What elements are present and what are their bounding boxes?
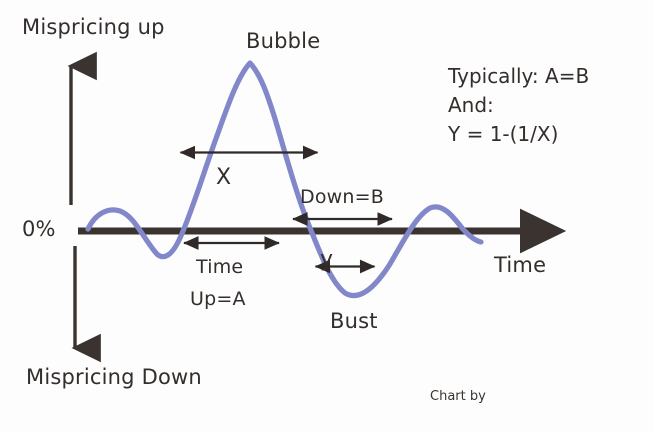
credit-line-1: Chart by [430, 387, 524, 407]
chart-canvas: Mispricing up Mispricing Down 0% Bubble … [0, 0, 654, 432]
mispricing-down-label: Mispricing Down [26, 364, 202, 390]
zero-percent-label: 0% [22, 216, 56, 242]
bubble-label: Bubble [246, 28, 320, 54]
time-axis-label: Time [494, 252, 546, 278]
mispricing-curve [88, 63, 481, 296]
time-up-label-line1: Time [196, 256, 243, 280]
chart-credit: Chart by Andrew Butter [430, 348, 524, 432]
formula-line-3: Y = 1-(1/X) [448, 120, 589, 149]
amplitude-y-label: y [320, 246, 333, 274]
amplitude-x-label: X [216, 164, 231, 192]
formula-block: Typically: A=B And: Y = 1-(1/X) [448, 62, 589, 149]
time-up-label-line2: Up=A [190, 288, 246, 312]
formula-line-2: And: [448, 91, 589, 120]
time-down-label: Down=B [300, 186, 384, 210]
bust-label: Bust [330, 308, 378, 334]
mispricing-up-label: Mispricing up [22, 14, 165, 40]
formula-line-1: Typically: A=B [448, 62, 589, 91]
